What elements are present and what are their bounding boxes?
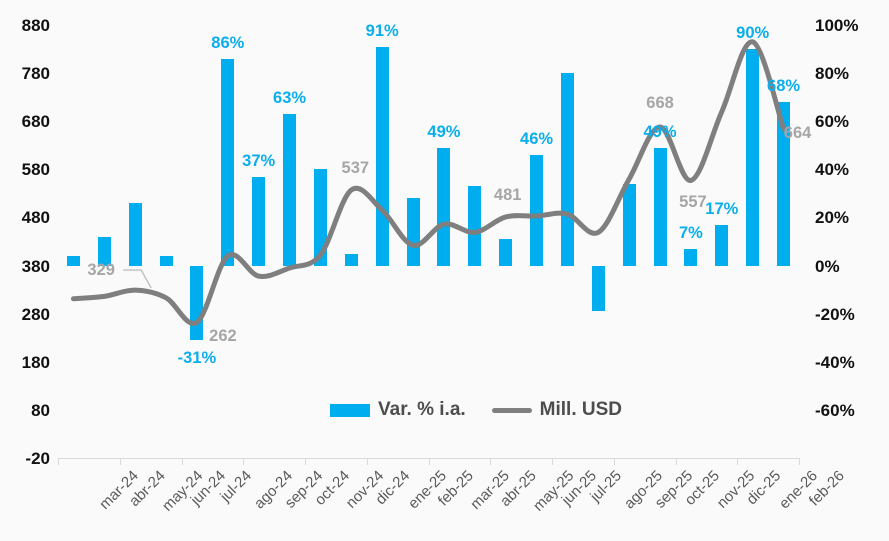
- bar-nov-25[interactable]: [684, 249, 697, 266]
- line-label-nov-25: 557: [679, 194, 707, 211]
- right-axis-tick-neg20pct: -20%: [815, 306, 855, 323]
- x-axis-tick: [737, 458, 738, 465]
- x-axis-tick: [429, 458, 430, 465]
- bar-label-oct-25: 49%: [644, 124, 677, 141]
- x-axis-tick: [120, 458, 121, 465]
- left-axis-tick-780: 780: [22, 65, 50, 82]
- bar-label-feb-26: 68%: [767, 78, 800, 95]
- left-axis-tick-580: 580: [22, 161, 50, 178]
- left-axis-tick-280: 280: [22, 306, 50, 323]
- bar-mar-24[interactable]: [67, 256, 80, 266]
- left-axis-tick-80: 80: [31, 402, 50, 419]
- legend-item-mill-usd[interactable]: Mill. USD: [492, 399, 622, 421]
- bar-label-sep-24: 37%: [242, 153, 275, 170]
- right-axis-tick-neg60pct: -60%: [815, 402, 855, 419]
- left-axis-tick-680: 680: [22, 113, 50, 130]
- bar-nov-24[interactable]: [314, 169, 327, 265]
- bar-feb-25[interactable]: [407, 198, 420, 265]
- line-label-jul-24: 262: [209, 328, 237, 345]
- legend-line-swatch-icon: [492, 408, 532, 413]
- right-axis-tick-60pct: 60%: [815, 113, 849, 130]
- bar-dic-25[interactable]: [715, 225, 728, 266]
- x-axis-tick: [182, 458, 183, 465]
- bar-ago-24[interactable]: [221, 59, 234, 266]
- line-label-dic-24: 537: [342, 160, 370, 177]
- bar-label-oct-24: 63%: [273, 90, 306, 107]
- bar-ago-25[interactable]: [592, 266, 605, 312]
- bar-label-dic-25: 17%: [705, 201, 738, 218]
- bar-label-ago-24: 86%: [211, 35, 244, 52]
- x-axis-tick: [552, 458, 553, 465]
- right-axis-tick-40pct: 40%: [815, 161, 849, 178]
- line-label-feb-26: 664: [784, 125, 812, 142]
- x-axis-tick: [676, 458, 677, 465]
- legend-item-var-pct-ia[interactable]: Var. % i.a.: [330, 399, 466, 421]
- bar-mar-25[interactable]: [437, 148, 450, 266]
- line-path: [73, 42, 783, 324]
- bar-oct-25[interactable]: [654, 148, 667, 266]
- bar-label-nov-25: 7%: [679, 225, 703, 242]
- chart-container: 88078068058048038028018080-20 100%80%60%…: [0, 0, 889, 541]
- right-axis-tick-80pct: 80%: [815, 65, 849, 82]
- line-label-may-25: 481: [494, 187, 522, 204]
- bar-jul-24[interactable]: [190, 266, 203, 341]
- bar-ene-26[interactable]: [746, 49, 759, 266]
- x-axis-tick: [490, 458, 491, 465]
- bar-sep-24[interactable]: [252, 177, 265, 266]
- bar-label-ene-26: 90%: [736, 25, 769, 42]
- bar-oct-24[interactable]: [283, 114, 296, 266]
- x-axis-tick: [243, 458, 244, 465]
- bar-abr-25[interactable]: [468, 186, 481, 265]
- left-axis-tick-180: 180: [22, 354, 50, 371]
- bar-may-24[interactable]: [129, 203, 142, 266]
- x-axis-tick: [305, 458, 306, 465]
- x-axis-tick: [614, 458, 615, 465]
- bar-label-ene-25: 91%: [366, 23, 399, 40]
- legend-bar-swatch-icon: [330, 404, 370, 417]
- bar-ene-25[interactable]: [376, 47, 389, 266]
- bar-jul-25[interactable]: [561, 73, 574, 265]
- right-axis-tick-20pct: 20%: [815, 209, 849, 226]
- x-axis-tick: [799, 458, 800, 465]
- bar-jun-25[interactable]: [530, 155, 543, 266]
- bar-label-jun-25: 46%: [520, 131, 553, 148]
- bar-sep-25[interactable]: [623, 184, 636, 266]
- bar-may-25[interactable]: [499, 239, 512, 265]
- line-label-oct-25: 668: [646, 95, 674, 112]
- x-axis-tick: [58, 458, 59, 465]
- right-axis-tick-100pct: 100%: [815, 17, 858, 34]
- right-axis-tick-0pct: 0%: [815, 258, 840, 275]
- left-axis-tick-380: 380: [22, 258, 50, 275]
- legend-label-mill-usd: Mill. USD: [540, 399, 622, 421]
- bar-label-jul-24: -31%: [178, 350, 217, 367]
- bar-label-mar-25: 49%: [427, 124, 460, 141]
- right-axis-tick-neg40pct: -40%: [815, 354, 855, 371]
- chart-legend: Var. % i.a. Mill. USD: [330, 399, 622, 421]
- bar-dic-24[interactable]: [345, 254, 358, 266]
- bar-jun-24[interactable]: [160, 256, 173, 266]
- left-axis-tick-neg20: -20: [25, 450, 50, 467]
- x-axis-tick: [367, 458, 368, 465]
- legend-label-var-pct-ia: Var. % i.a.: [378, 399, 466, 421]
- left-axis-tick-480: 480: [22, 209, 50, 226]
- left-axis-tick-880: 880: [22, 17, 50, 34]
- plot-area: -31%86%37%63%91%49%46%49%7%17%90%68%3292…: [58, 25, 799, 458]
- line-label-may-24: 329: [87, 262, 115, 279]
